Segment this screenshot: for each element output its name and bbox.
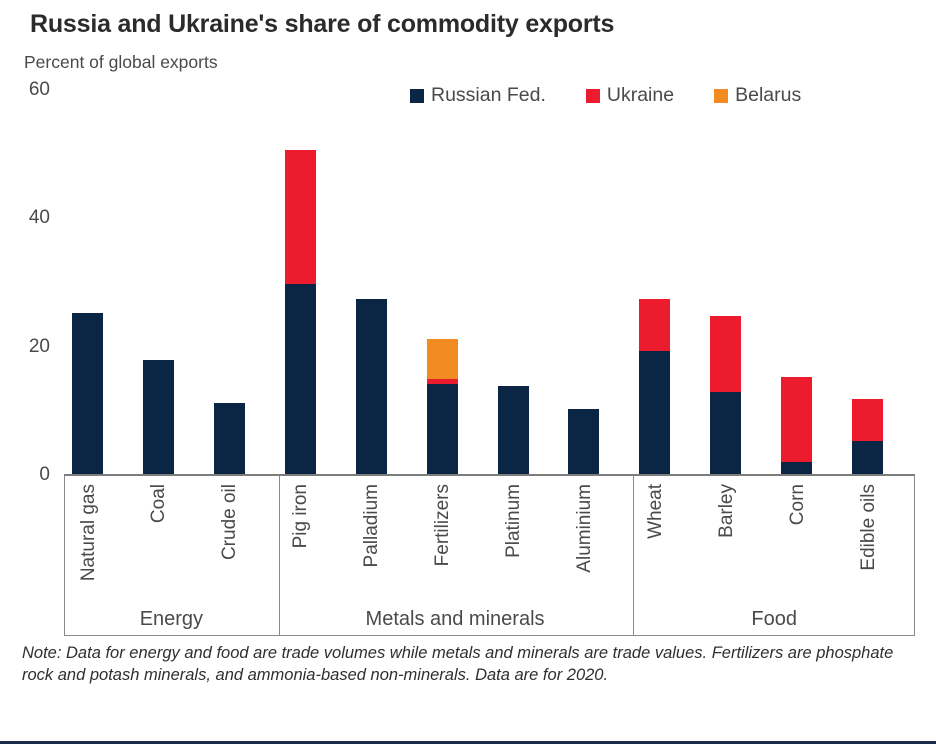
bar-segment [781, 377, 812, 462]
bar-column[interactable] [427, 339, 458, 475]
y-axis-labels: 0204060 [0, 90, 56, 475]
footer-rule [0, 741, 936, 744]
plot-area [64, 90, 915, 475]
y-axis-tick-label: 60 [29, 79, 50, 101]
x-axis-category-label: Natural gas [78, 484, 100, 581]
bar-segment [427, 379, 458, 383]
bar-segment [852, 441, 883, 475]
bar-segment [427, 384, 458, 475]
bar-segment [710, 392, 741, 475]
x-axis-category-label: Crude oil [219, 484, 241, 560]
group-label: Food [632, 608, 916, 631]
category-label-band: Natural gasCoalCrude oilPig ironPalladiu… [64, 476, 915, 636]
bar-segment [568, 409, 599, 475]
y-axis-tick-label: 0 [39, 464, 50, 486]
y-axis-tick-label: 20 [29, 336, 50, 358]
group-label: Metals and minerals [278, 608, 633, 631]
bar-segment [639, 351, 670, 475]
bar-column[interactable] [710, 316, 741, 475]
chart-subtitle: Percent of global exports [24, 52, 218, 73]
chart-note: Note: Data for energy and food are trade… [22, 643, 922, 687]
x-axis-category-label: Platinum [503, 484, 525, 558]
bar-column[interactable] [498, 386, 529, 475]
bar-series-container [64, 90, 915, 475]
bar-segment [285, 284, 316, 475]
x-axis-category-label: Coal [148, 484, 170, 523]
bar-segment [356, 299, 387, 475]
bar-segment [427, 339, 458, 379]
page-title: Russia and Ukraine's share of commodity … [30, 10, 614, 39]
bar-column[interactable] [356, 299, 387, 475]
bar-column[interactable] [568, 409, 599, 475]
bar-segment [852, 399, 883, 441]
bar-column[interactable] [285, 150, 316, 475]
bar-segment [781, 462, 812, 475]
x-axis-category-label: Aluminium [574, 484, 596, 573]
bar-column[interactable] [72, 313, 103, 475]
bar-segment [72, 313, 103, 475]
x-axis-category-label: Palladium [361, 484, 383, 567]
group-label: Energy [65, 608, 278, 631]
bar-column[interactable] [214, 403, 245, 476]
y-axis-tick-label: 40 [29, 207, 50, 229]
bar-segment [639, 299, 670, 351]
bar-column[interactable] [781, 377, 812, 475]
bar-column[interactable] [852, 399, 883, 475]
bar-segment [710, 316, 741, 392]
x-axis-category-label: Corn [787, 484, 809, 525]
bar-segment [285, 150, 316, 284]
x-axis-category-label: Wheat [645, 484, 667, 539]
bar-segment [498, 386, 529, 475]
x-axis-category-label: Edible oils [858, 484, 880, 571]
x-axis-category-label: Pig iron [290, 484, 312, 548]
x-axis-category-label: Barley [716, 484, 738, 538]
bar-segment [214, 403, 245, 476]
bar-column[interactable] [143, 360, 174, 476]
bar-segment [143, 360, 174, 476]
bar-column[interactable] [639, 299, 670, 475]
x-axis-category-label: Fertilizers [432, 484, 454, 566]
chart-root: Russia and Ukraine's share of commodity … [0, 0, 936, 748]
